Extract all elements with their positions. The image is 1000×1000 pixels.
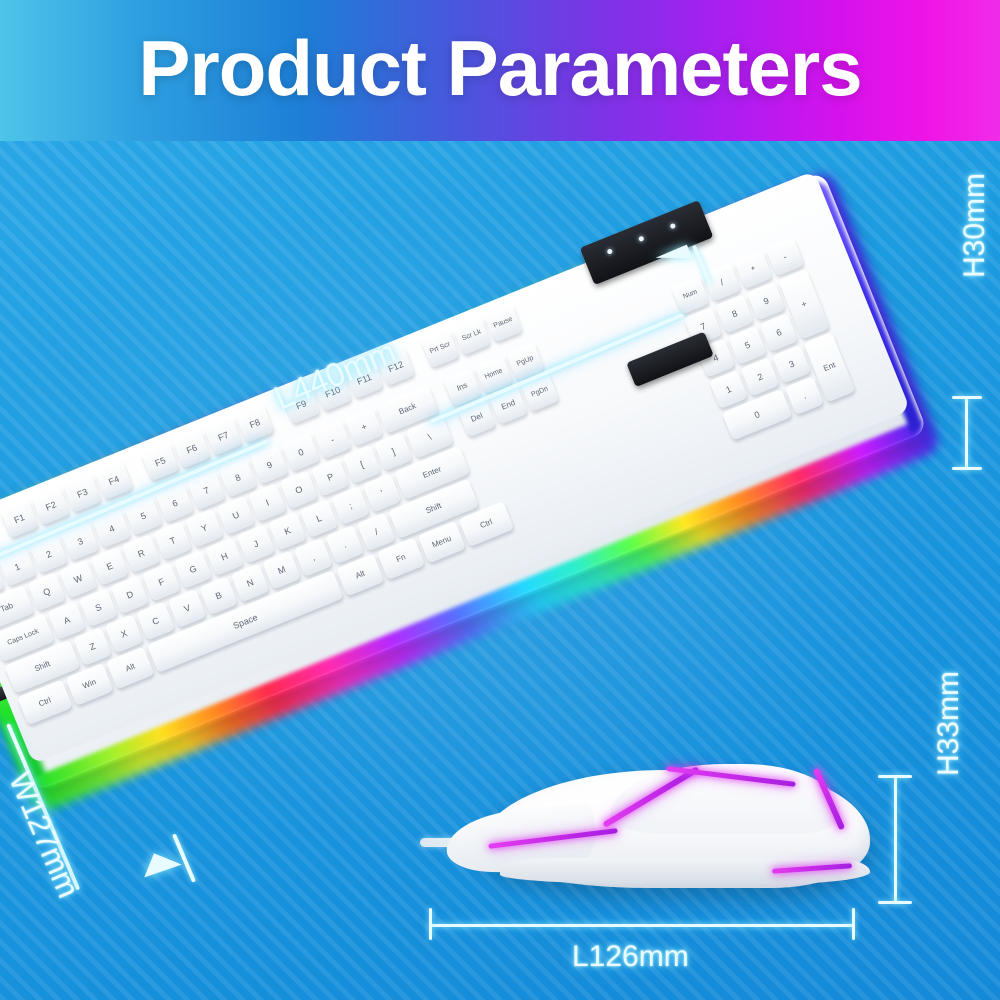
dimension-tick-ms-height-top	[878, 775, 912, 778]
dimension-tick-ms-length-left	[429, 908, 432, 940]
dimension-line-ms-length	[430, 924, 854, 927]
key[interactable]: F1	[0, 499, 39, 538]
dimension-label-kb-height: H30mm	[958, 173, 992, 278]
key[interactable]: Pause	[484, 304, 523, 343]
key[interactable]: F4	[94, 461, 133, 500]
dimension-tick-ms-length-right	[852, 908, 855, 940]
dimension-tick-kb-height-top	[952, 396, 982, 399]
key[interactable]: Scr Lk	[452, 316, 491, 355]
dimension-tick-kb-height-bottom	[952, 467, 982, 470]
dimension-label-ms-height: H33mm	[932, 671, 966, 776]
key[interactable]: F8	[235, 404, 274, 443]
dimension-label-ms-length: L126mm	[572, 940, 689, 974]
key[interactable]: F7	[204, 417, 243, 456]
key[interactable]: Prt Scr	[421, 329, 460, 368]
keyboard-logo-panel	[626, 332, 714, 388]
key[interactable]: F5	[141, 442, 180, 481]
key[interactable]: F3	[63, 474, 102, 513]
product-parameters-image: Product Parameters Esc F1 F2 F3 F4 F5 F6…	[0, 0, 1000, 1000]
page-title: Product Parameters	[0, 0, 1000, 138]
key[interactable]: Del	[457, 398, 496, 437]
key[interactable]: F2	[31, 486, 70, 525]
dimension-line-kb-height	[965, 398, 968, 470]
key[interactable]: F6	[172, 429, 211, 468]
header-banner: Product Parameters	[0, 0, 1000, 141]
dimension-tick-ms-height-bottom	[878, 901, 912, 904]
dimension-line-ms-height	[894, 776, 897, 904]
mouse-base	[500, 858, 870, 884]
mouse-illustration	[420, 752, 890, 912]
